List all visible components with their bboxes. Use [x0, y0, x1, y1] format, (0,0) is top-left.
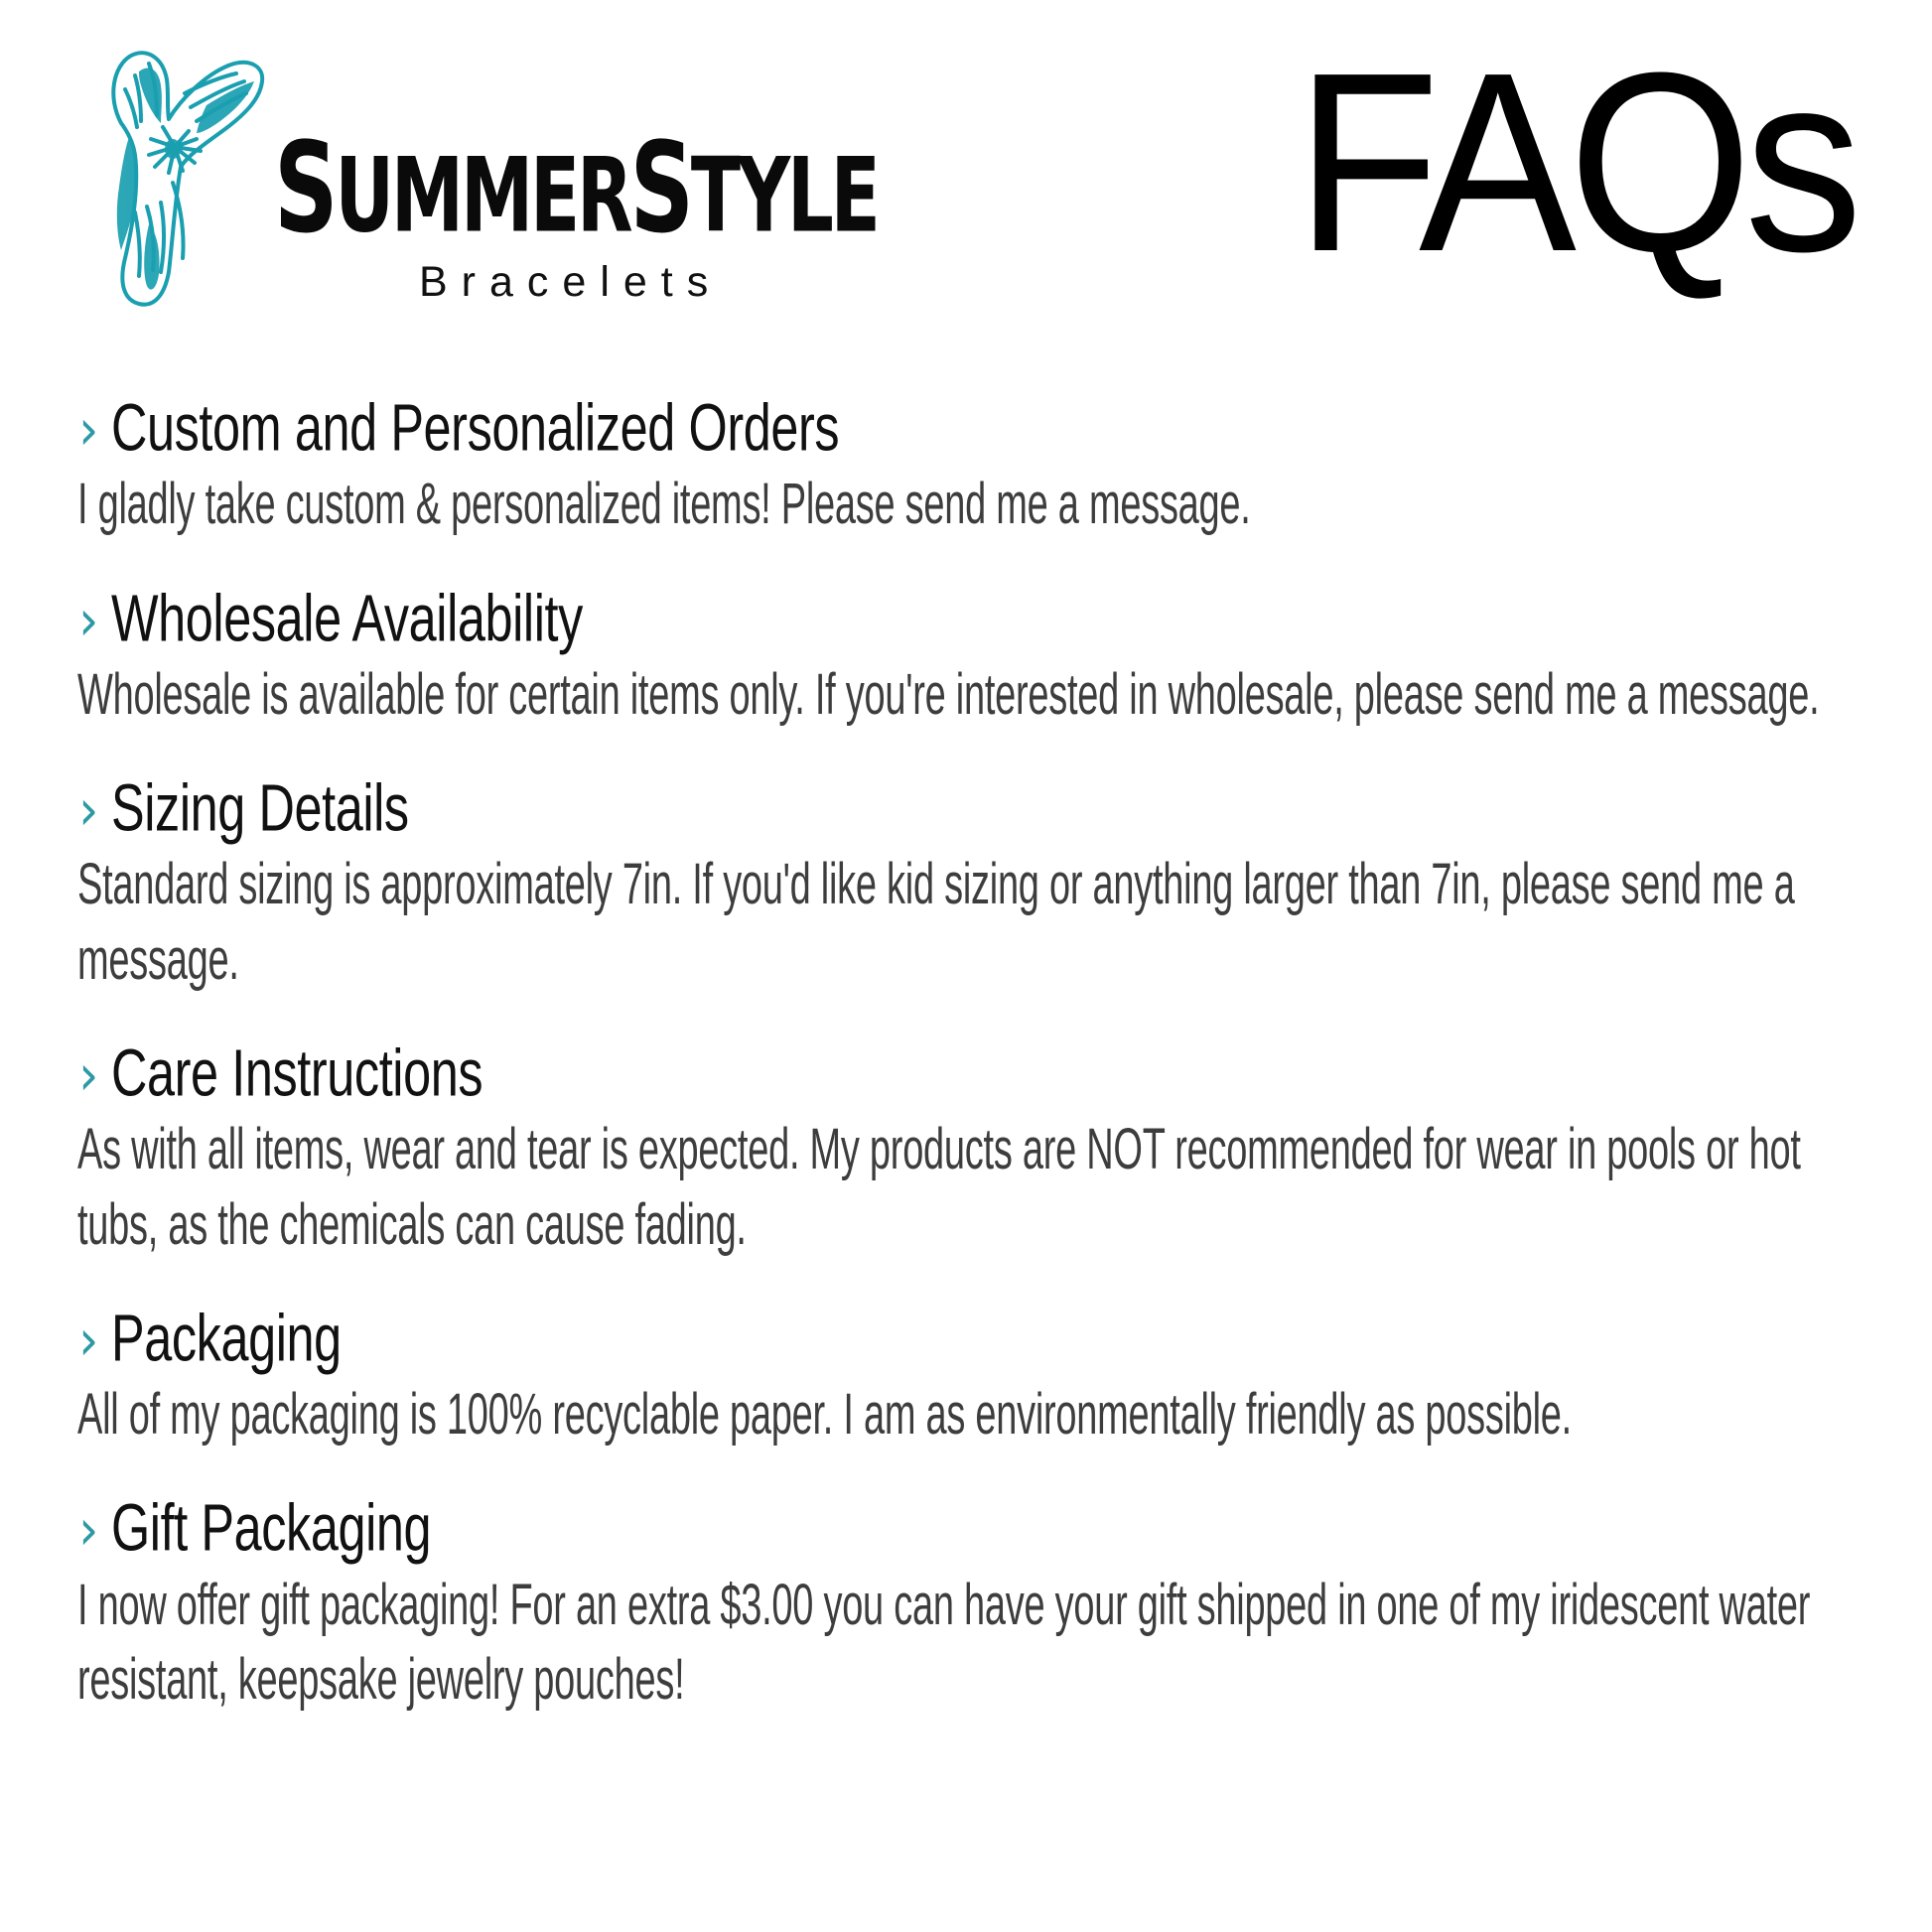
brand-text: SUMMERSTYLE Bracelets: [274, 135, 890, 307]
faq-heading[interactable]: › Sizing Details: [77, 775, 1864, 841]
faq-heading[interactable]: › Gift Packaging: [77, 1495, 1864, 1561]
faq-item-custom-orders: › Custom and Personalized Orders I gladl…: [77, 395, 1864, 542]
faq-heading-label: Custom and Personalized Orders: [111, 393, 839, 463]
faq-heading[interactable]: › Packaging: [77, 1306, 1864, 1371]
faq-heading[interactable]: › Custom and Personalized Orders: [77, 395, 1864, 461]
wordmark-tyle: TYLE: [691, 136, 878, 255]
faq-heading-label: Packaging: [111, 1304, 342, 1373]
faq-item-wholesale: › Wholesale Availability Wholesale is av…: [77, 586, 1864, 733]
faq-item-gift-packaging: › Gift Packaging I now offer gift packag…: [77, 1495, 1864, 1717]
chevron-right-icon: ›: [78, 594, 98, 649]
chevron-right-icon: ›: [78, 403, 98, 459]
faq-heading[interactable]: › Wholesale Availability: [77, 586, 1864, 651]
brand-subtitle: Bracelets: [419, 258, 890, 307]
chevron-right-icon: ›: [78, 1313, 98, 1369]
faq-heading[interactable]: › Care Instructions: [77, 1040, 1864, 1106]
page-title: FAQs: [1296, 36, 1855, 291]
faq-body: Wholesale is available for certain items…: [77, 657, 1860, 732]
faq-body: I now offer gift packaging! For an extra…: [77, 1568, 1860, 1718]
page-header: SUMMERSTYLE Bracelets FAQs: [0, 0, 1932, 397]
faq-item-care: › Care Instructions As with all items, w…: [77, 1040, 1864, 1262]
brand-wordmark: SUMMERSTYLE: [274, 135, 766, 242]
faq-body: Standard sizing is approximately 7in. If…: [77, 847, 1860, 997]
faq-body: I gladly take custom & personalized item…: [77, 467, 1860, 541]
faq-heading-label: Wholesale Availability: [111, 584, 583, 653]
wordmark-ummer: UMMER: [335, 136, 629, 255]
faq-page: SUMMERSTYLE Bracelets FAQs › Custom and …: [0, 0, 1932, 1932]
chevron-right-icon: ›: [78, 1503, 98, 1559]
faq-heading-label: Sizing Details: [111, 773, 409, 843]
brand-lockup: SUMMERSTYLE Bracelets: [77, 28, 892, 326]
starfish-icon: [77, 28, 276, 311]
faq-heading-label: Care Instructions: [111, 1038, 483, 1108]
wordmark-lead-s2: S: [630, 116, 691, 261]
faq-item-packaging: › Packaging All of my packaging is 100% …: [77, 1306, 1864, 1452]
faq-body: All of my packaging is 100% recyclable p…: [77, 1377, 1860, 1451]
faq-heading-label: Gift Packaging: [111, 1493, 431, 1563]
chevron-right-icon: ›: [78, 1048, 98, 1104]
wordmark-lead-s: S: [274, 116, 335, 261]
chevron-right-icon: ›: [78, 783, 98, 839]
faq-body: As with all items, wear and tear is expe…: [77, 1112, 1860, 1262]
faq-item-sizing: › Sizing Details Standard sizing is appr…: [77, 775, 1864, 997]
faq-list: › Custom and Personalized Orders I gladl…: [77, 395, 1864, 1717]
